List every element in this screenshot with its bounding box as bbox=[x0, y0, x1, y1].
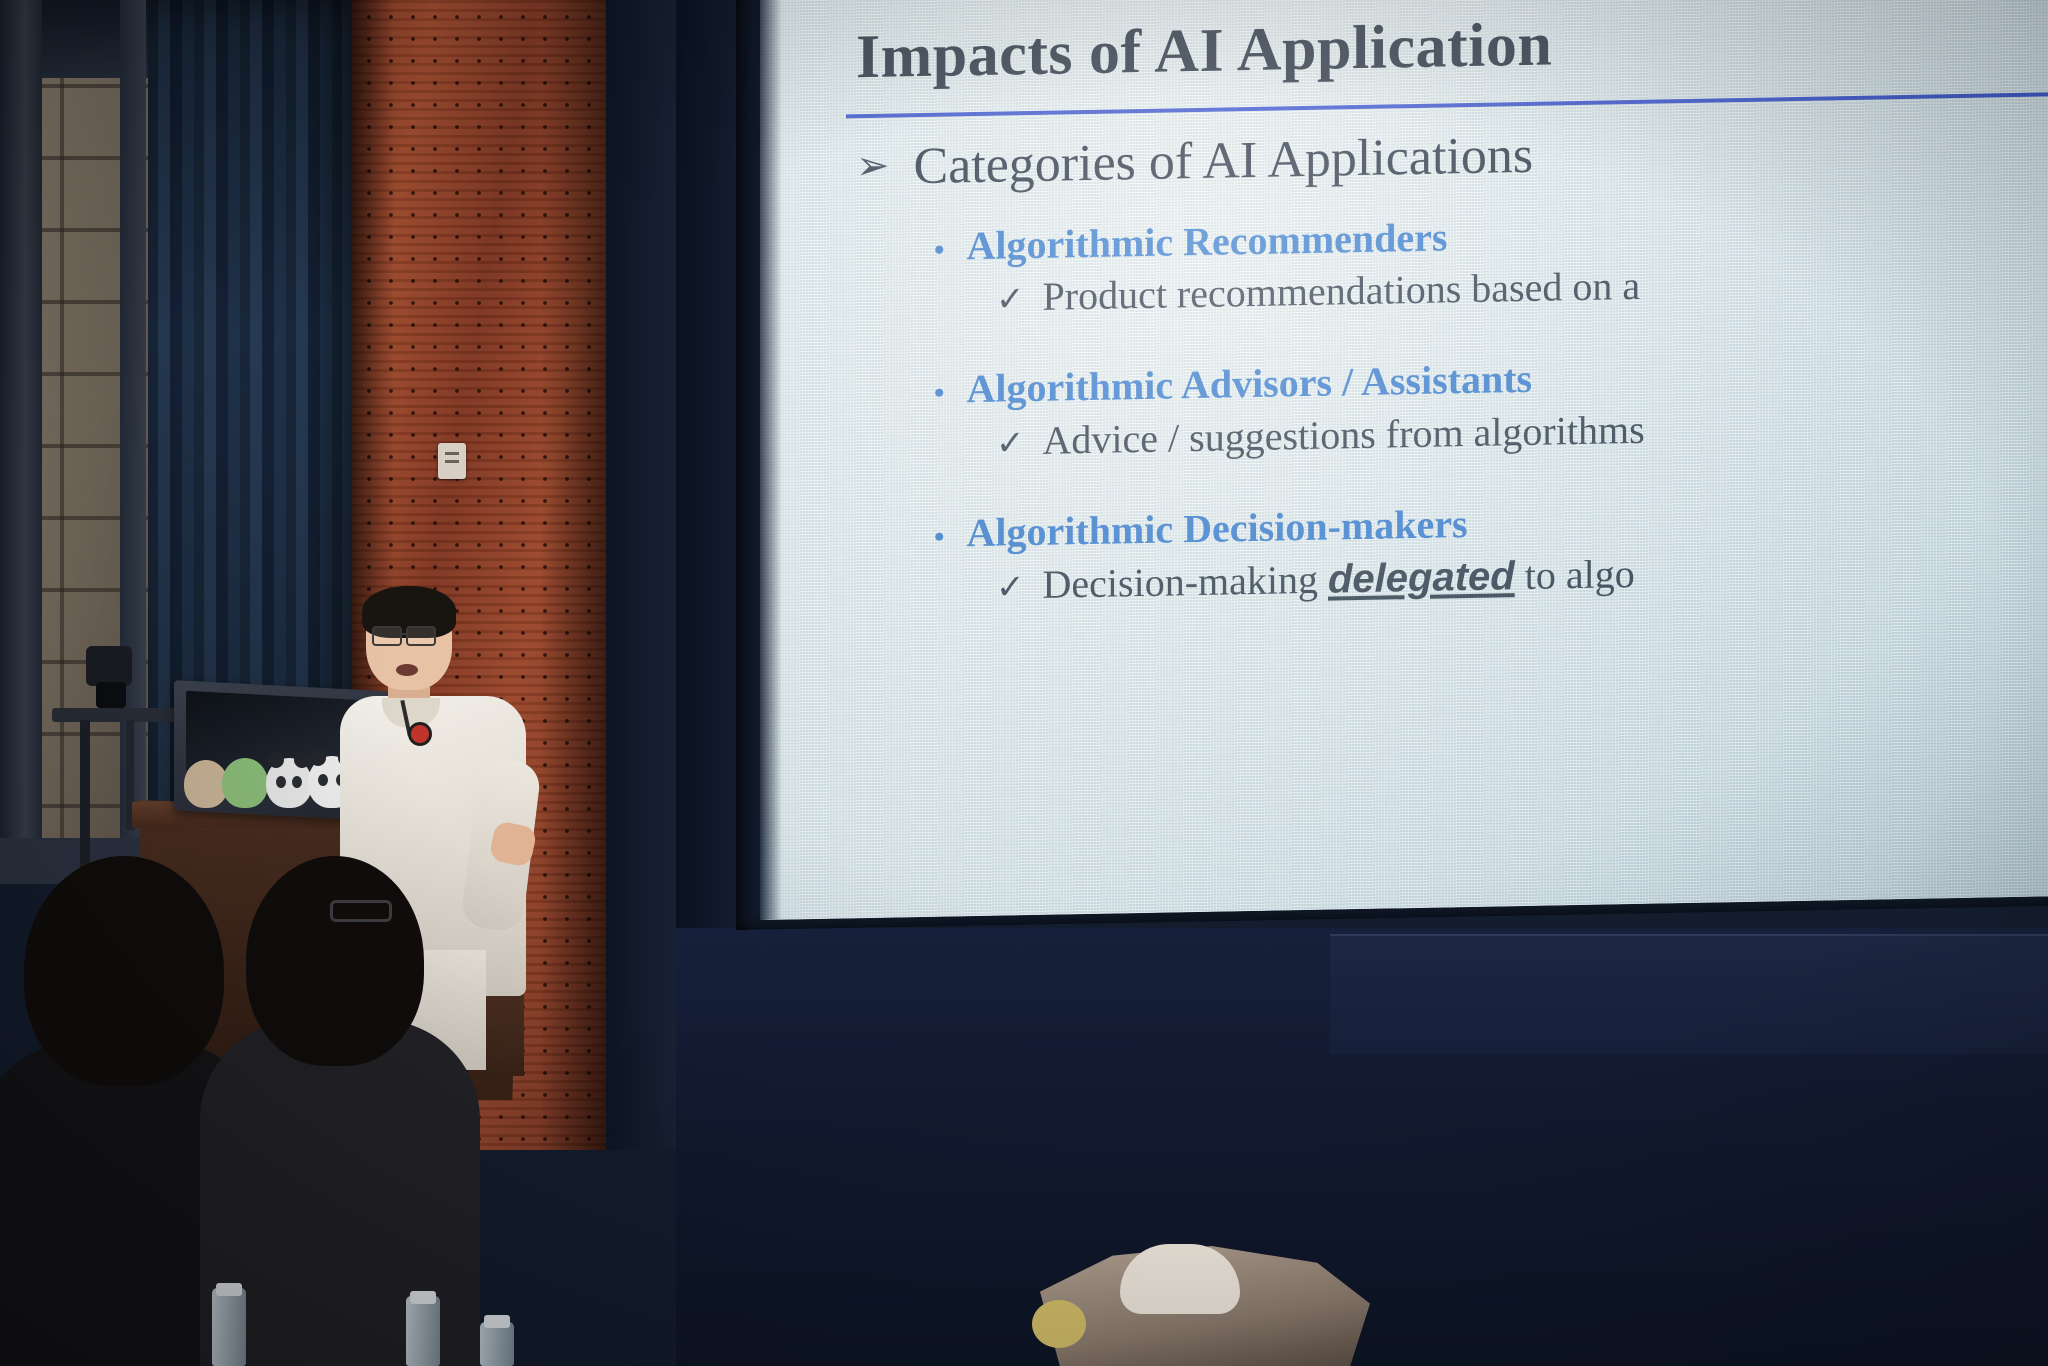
wall-power-socket bbox=[438, 443, 466, 479]
slide-bullet-level1-text: Categories of AI Applications bbox=[914, 126, 1534, 196]
slide-subbullet-advice: ✓ Advice / suggestions from algorithms bbox=[996, 406, 1645, 465]
water-bottle bbox=[406, 1296, 440, 1366]
plush-toys bbox=[184, 746, 364, 808]
presenter-glasses-left-lens bbox=[372, 626, 402, 646]
dot-bullet-icon: • bbox=[934, 236, 945, 266]
plush-ear bbox=[268, 752, 284, 768]
presenter-glasses-bridge bbox=[400, 633, 408, 635]
water-bottle-cap bbox=[484, 1315, 510, 1328]
slide-bullet-recommenders: • Algorithmic Recommenders bbox=[934, 213, 1448, 269]
slide-bullet-level1: ➢ Categories of AI Applications bbox=[856, 126, 1533, 197]
slide-bullet-decision-makers: • Algorithmic Decision-makers bbox=[934, 500, 1468, 557]
check-bullet-icon: ✓ bbox=[996, 567, 1025, 608]
slide-subbullet-advice-text: Advice / suggestions from algorithms bbox=[1043, 406, 1645, 464]
dot-bullet-icon: • bbox=[934, 379, 945, 409]
slide-subbullet-delegated: ✓ Decision-making delegated to algo bbox=[996, 550, 1635, 609]
wood-panel-shadow-right bbox=[540, 0, 606, 1150]
slide-bullet-decision-makers-text: Algorithmic Decision-makers bbox=[967, 500, 1468, 556]
audience-member-glasses bbox=[330, 900, 392, 922]
plush-ear bbox=[294, 752, 310, 768]
delegated-emphasis: delegated bbox=[1328, 554, 1515, 601]
camera-lens-icon bbox=[96, 682, 126, 708]
plush-toy-panda bbox=[266, 758, 312, 808]
plush-eye bbox=[276, 776, 286, 788]
slide-bullet-advisors: • Algorithmic Advisors / Assistants bbox=[934, 355, 1532, 413]
check-bullet-icon: ✓ bbox=[996, 279, 1025, 320]
arrow-bullet-icon: ➢ bbox=[856, 145, 890, 186]
wall-lower-panel bbox=[1330, 934, 2048, 1054]
projection-screen: Impacts of AI Application ➢ Categories o… bbox=[760, 0, 2048, 920]
presenter-mouth bbox=[396, 664, 418, 676]
slide-subbullet-product-recommendations-text: Product recommendations based on a bbox=[1043, 262, 1641, 320]
audience-member-head bbox=[246, 856, 424, 1066]
presenter-glasses-right-lens bbox=[406, 626, 436, 646]
presentation-photo-scene: Impacts of AI Application ➢ Categories o… bbox=[0, 0, 2048, 1366]
flower-bloom bbox=[1120, 1244, 1240, 1314]
plush-toy bbox=[222, 758, 268, 808]
plush-ear bbox=[310, 750, 326, 766]
water-bottle-cap bbox=[410, 1291, 436, 1304]
camera-rig-leg-left bbox=[80, 720, 90, 870]
slide-title: Impacts of AI Application bbox=[856, 9, 1552, 93]
water-bottle bbox=[212, 1288, 246, 1366]
camera-rig-bar bbox=[52, 708, 184, 722]
water-bottle bbox=[480, 1322, 514, 1366]
microphone-icon bbox=[408, 722, 432, 746]
camera-body bbox=[86, 646, 132, 686]
plush-eye bbox=[292, 776, 302, 788]
slide-subbullet-product-recommendations: ✓ Product recommendations based on a bbox=[996, 262, 1640, 321]
water-bottle-cap bbox=[216, 1283, 242, 1296]
check-bullet-icon: ✓ bbox=[996, 423, 1025, 464]
slide-bullet-recommenders-text: Algorithmic Recommenders bbox=[967, 213, 1448, 269]
flower-bloom-yellow bbox=[1032, 1300, 1086, 1348]
window-left-frame bbox=[0, 0, 42, 880]
audience-member-head bbox=[24, 856, 224, 1086]
slide-subbullet-delegated-line: Decision-making delegated to algo bbox=[1043, 550, 1635, 608]
slide-title-underline bbox=[846, 92, 2048, 119]
slide-content: Impacts of AI Application ➢ Categories o… bbox=[760, 0, 2048, 920]
delegated-text-before: Decision-making bbox=[1043, 557, 1329, 607]
delegated-text-after: to algo bbox=[1515, 551, 1635, 598]
plush-eye bbox=[318, 774, 328, 786]
slide-bullet-advisors-text: Algorithmic Advisors / Assistants bbox=[967, 355, 1533, 412]
dot-bullet-icon: • bbox=[934, 523, 945, 553]
